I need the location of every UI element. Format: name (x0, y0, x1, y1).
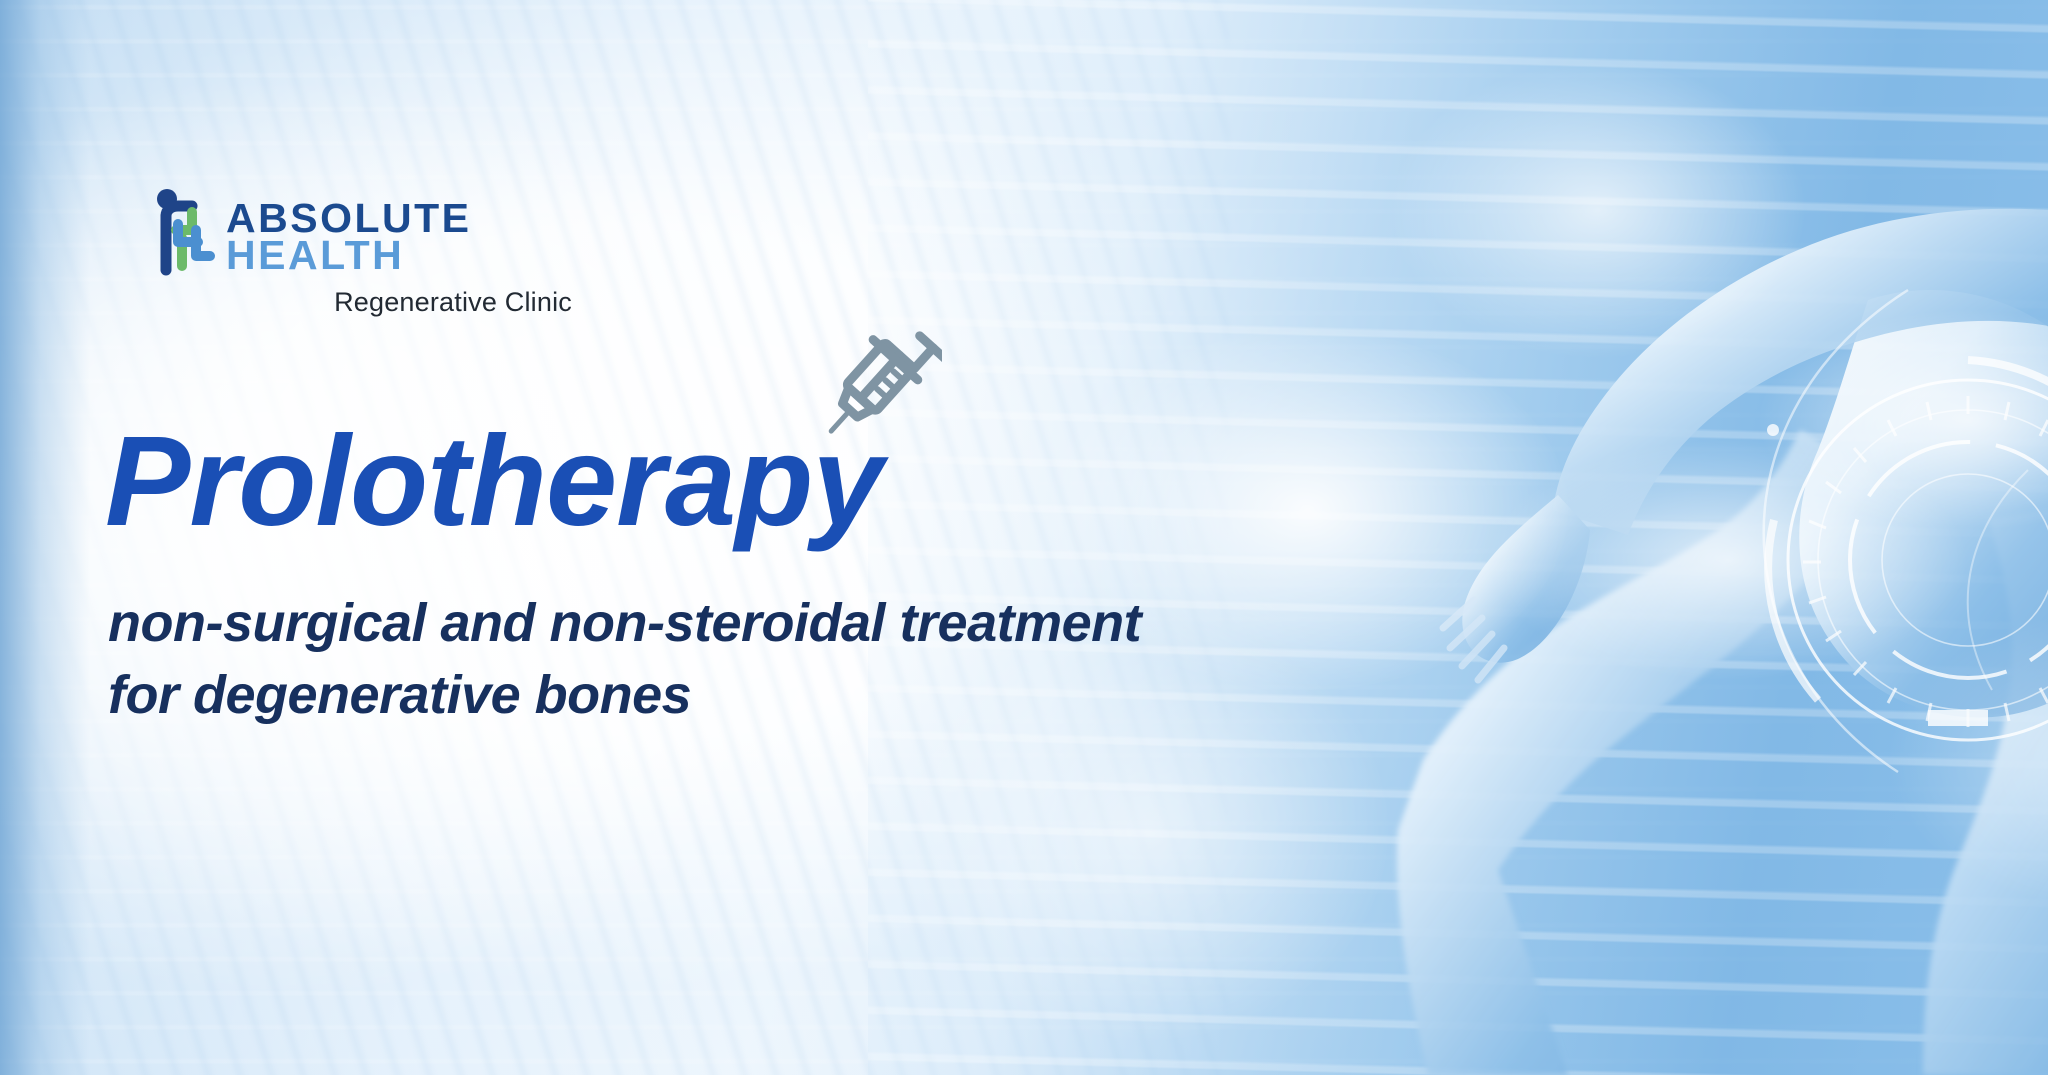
subtitle-line-2: for degenerative bones (108, 660, 968, 732)
motion-speed-lines (868, 0, 2048, 1075)
brand-tagline: Regenerative Clinic (152, 287, 572, 318)
runner-background-gradient (868, 0, 2048, 1075)
subtitle: non-surgical and non-steroidal treatment… (108, 588, 968, 732)
subtitle-line-1: non-surgical and non-steroidal treatment (108, 588, 968, 660)
prolotherapy-banner: ABSOLUTE HEALTH Regenerative Clinic (0, 0, 2048, 1075)
glow-blob-shoulder (1388, 60, 1808, 360)
banner-content: ABSOLUTE HEALTH Regenerative Clinic (0, 0, 1000, 1075)
brand-name-line2: HEALTH (226, 232, 404, 278)
page-title: Prolotherapy (105, 418, 883, 546)
brand-logo[interactable]: ABSOLUTE HEALTH Regenerative Clinic (152, 186, 572, 318)
runner-scene (868, 0, 2048, 1075)
person-medical-cross-logo-icon (152, 186, 216, 278)
translucent-running-human-figure (868, 0, 2048, 1075)
hud-circle-hip (1768, 360, 2048, 740)
